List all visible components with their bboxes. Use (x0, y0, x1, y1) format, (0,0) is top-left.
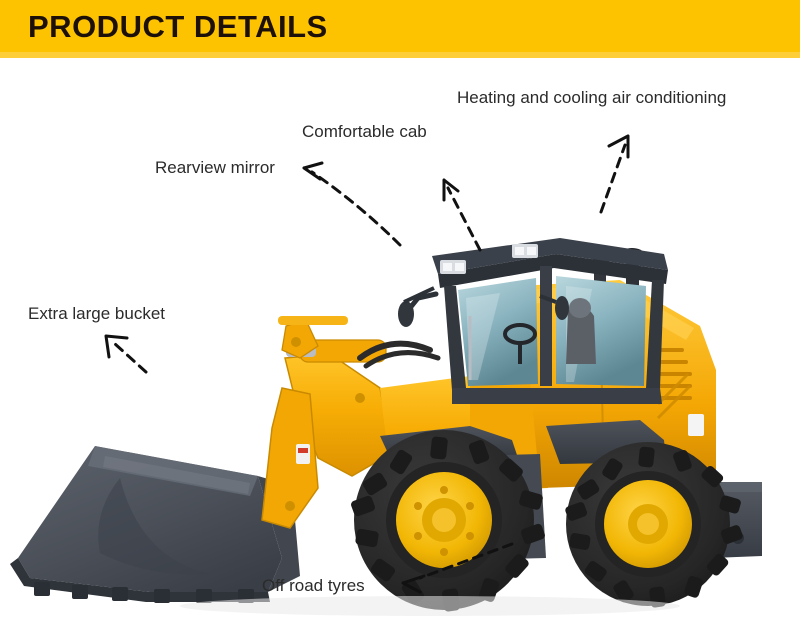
loader-bucket (10, 446, 300, 603)
callout-label-comfortable-cab: Comfortable cab (302, 123, 427, 142)
operator-cab (398, 238, 668, 404)
callout-label-air-conditioning: Heating and cooling air conditioning (457, 89, 726, 108)
callout-label-extra-large-bucket: Extra large bucket (28, 305, 165, 324)
product-details-page: PRODUCT DETAILS (0, 0, 800, 630)
rear-wheel (564, 442, 744, 608)
page-title: PRODUCT DETAILS (28, 9, 328, 45)
rearview-mirror-glass (398, 301, 414, 327)
wheel-loader-illustration (0, 58, 800, 630)
callout-label-rearview-mirror: Rearview mirror (155, 159, 275, 178)
callout-label-off-road-tyres: Off road tyres (262, 577, 365, 596)
